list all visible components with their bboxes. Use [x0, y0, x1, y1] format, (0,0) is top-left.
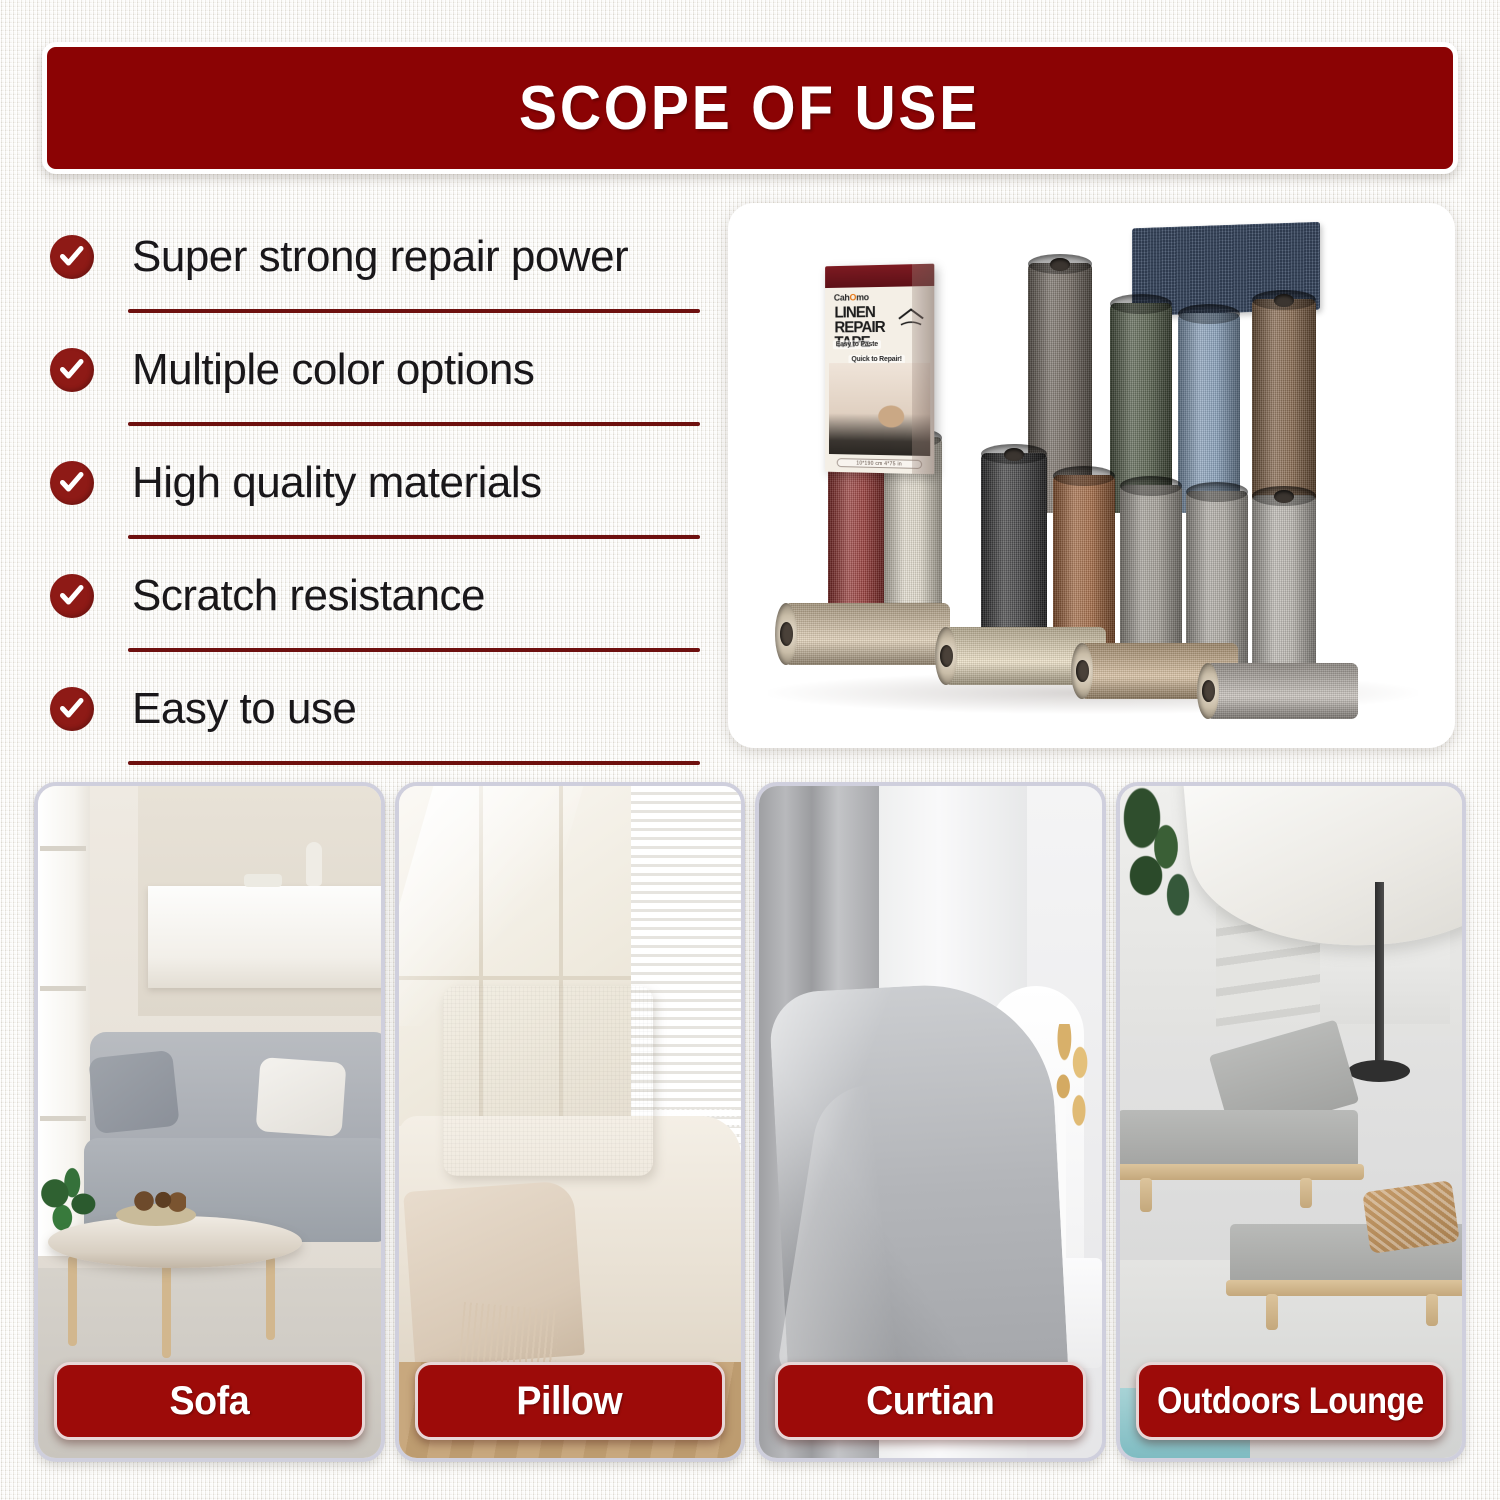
feature-row: Super strong repair power: [44, 200, 704, 313]
brand-logo: CahOmo: [834, 292, 869, 303]
lounger-cushion: [1118, 1110, 1358, 1168]
table-leg: [266, 1256, 275, 1340]
check-circle-icon: [50, 687, 94, 731]
box-side-panel: [912, 264, 934, 475]
photo-caption-sofa: Sofa: [54, 1362, 365, 1440]
caption-label: Outdoors Lounge: [1157, 1380, 1424, 1422]
check-circle-icon: [50, 461, 94, 505]
lounger-frame: [1116, 1164, 1364, 1180]
sofa-scene: [38, 786, 381, 1458]
photo-caption-outdoors-lounge: Outdoors Lounge: [1136, 1362, 1447, 1440]
check-circle-icon: [50, 348, 94, 392]
feature-label: Super strong repair power: [132, 232, 628, 282]
photo-card-sofa[interactable]: Sofa: [34, 782, 385, 1462]
feature-row: Scratch resistance: [44, 539, 704, 652]
feature-row: Easy to use: [44, 652, 704, 765]
badge-easy-to-paste: Easy to Paste: [833, 340, 881, 349]
caption-label: Pillow: [517, 1379, 623, 1424]
product-box: CahOmo LINEN REPAIR TAPE Easy to Paste Q…: [825, 264, 934, 475]
pine-cones: [126, 1190, 186, 1212]
wall-cabinet: [148, 886, 385, 988]
feature-list: Super strong repair power Multiple color…: [44, 200, 704, 765]
feature-label: Scratch resistance: [132, 571, 485, 621]
product-photo: CahOmo LINEN REPAIR TAPE Easy to Paste Q…: [728, 203, 1455, 748]
outdoor-scene: [1120, 786, 1463, 1458]
box-dimension-label: 10*190 cm 4*75 in: [837, 458, 922, 469]
feature-label: Easy to use: [132, 684, 356, 734]
umbrella-pole: [1375, 882, 1384, 1072]
product-image-card: CahOmo LINEN REPAIR TAPE Easy to Paste Q…: [728, 203, 1455, 748]
photo-caption-curtain: Curtian: [775, 1362, 1086, 1440]
photo-card-curtain[interactable]: Curtian: [755, 782, 1106, 1462]
cream-pillow: [443, 986, 653, 1176]
pillow-scene: [399, 786, 742, 1458]
lounger-leg: [1266, 1294, 1278, 1330]
woven-pillow: [1362, 1180, 1460, 1254]
caption-label: Curtian: [866, 1379, 994, 1424]
check-circle-icon: [50, 235, 94, 279]
page-title: SCOPE OF USE: [519, 73, 980, 144]
sofa-pillow-grey: [88, 1050, 179, 1134]
tape-roll-lying-stone: [1206, 663, 1358, 719]
feature-divider: [128, 761, 700, 765]
sofa-pillow-white: [256, 1057, 347, 1137]
photo-caption-pillow: Pillow: [415, 1362, 726, 1440]
photo-card-pillow[interactable]: Pillow: [395, 782, 746, 1462]
tape-roll-lightgrey: [1252, 495, 1316, 681]
feature-label: Multiple color options: [132, 345, 534, 395]
feature-row: Multiple color options: [44, 313, 704, 426]
tape-roll-lying-tan: [784, 603, 950, 665]
shelf-bowl: [244, 874, 282, 887]
table-leg: [68, 1256, 77, 1346]
table-leg: [162, 1262, 171, 1358]
caption-label: Sofa: [169, 1379, 249, 1424]
photo-card-outdoors-lounge[interactable]: Outdoors Lounge: [1116, 782, 1467, 1462]
lounger-leg: [1140, 1178, 1152, 1212]
check-circle-icon: [50, 574, 94, 618]
feature-row: High quality materials: [44, 426, 704, 539]
tape-roll-brown: [1252, 299, 1316, 514]
shelf-vase: [306, 842, 322, 886]
header-banner: SCOPE OF USE: [42, 42, 1458, 174]
feature-label: High quality materials: [132, 458, 542, 508]
curtain-scene: [759, 786, 1102, 1458]
infographic-page: SCOPE OF USE Super strong repair power M…: [0, 0, 1500, 1500]
use-case-photo-strip: Sofa Pillow: [34, 782, 1466, 1462]
lounger-leg: [1426, 1294, 1438, 1326]
